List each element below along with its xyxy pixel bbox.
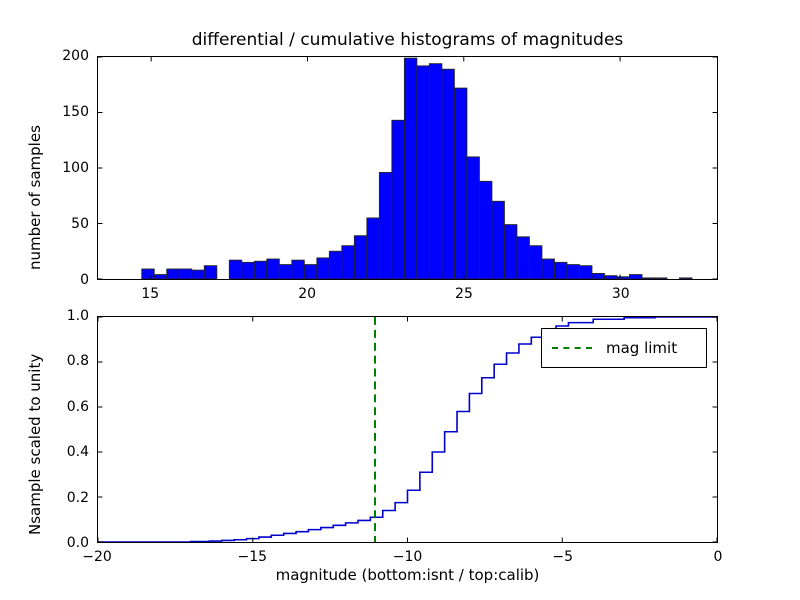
legend-box: mag limit <box>541 328 707 368</box>
histogram-bar <box>254 261 267 279</box>
top-axes-ylabel: number of samples <box>26 125 44 270</box>
top-xtick-label: 20 <box>298 286 316 302</box>
histogram-bar <box>567 265 580 279</box>
bottom-ytick-label: 0.4 <box>51 444 89 460</box>
top-ytick-label: 200 <box>51 48 89 64</box>
top-ytick-label: 50 <box>51 216 89 232</box>
bottom-xtick-label: 0 <box>714 549 723 565</box>
histogram-bar <box>329 251 342 279</box>
histogram-bar <box>179 269 192 279</box>
figure-canvas: differential / cumulative histograms of … <box>0 0 800 600</box>
histogram-bar <box>167 269 180 279</box>
figure-xlabel: magnitude (bottom:isnt / top:calib) <box>97 566 718 584</box>
top-ytick-label: 100 <box>51 160 89 176</box>
bottom-xtick-label: −15 <box>237 549 267 565</box>
bottom-ytick-label: 0.8 <box>51 353 89 369</box>
histogram-bar <box>504 225 517 279</box>
histogram-bar <box>592 273 605 279</box>
histogram-bar <box>529 246 542 279</box>
histogram-bar <box>429 64 442 279</box>
bottom-xtick-label: −5 <box>552 549 573 565</box>
histogram-bar <box>492 201 505 279</box>
histogram-bar <box>542 259 555 279</box>
histogram-bar <box>604 276 617 279</box>
histogram-bar <box>404 58 417 279</box>
histogram-bar <box>679 278 692 279</box>
bottom-xtick-label: −20 <box>82 549 112 565</box>
bottom-xtick-label: −10 <box>393 549 423 565</box>
figure-title: differential / cumulative histograms of … <box>97 30 718 50</box>
histogram-bar <box>554 262 567 279</box>
histogram-bar <box>229 260 242 279</box>
histogram-bar <box>192 270 205 279</box>
histogram-bar <box>242 262 255 279</box>
legend-label-mag-limit: mag limit <box>606 339 677 357</box>
top-ytick-label: 150 <box>51 104 89 120</box>
legend-line-sample-mag-limit <box>552 347 592 349</box>
histogram-bar <box>304 265 317 279</box>
histogram-bar <box>292 260 305 279</box>
bottom-ytick-label: 0.6 <box>51 399 89 415</box>
histogram-bar <box>517 237 530 279</box>
top-xtick-label: 25 <box>455 286 473 302</box>
histogram-bar <box>579 266 592 279</box>
histogram-bar <box>354 236 367 279</box>
top-xtick-label: 15 <box>141 286 159 302</box>
histogram-bar <box>617 277 630 279</box>
differential-histogram-plot <box>98 57 717 279</box>
histogram-bar <box>379 172 392 279</box>
histogram-bar <box>367 218 380 279</box>
histogram-bar <box>154 275 167 279</box>
histogram-bar <box>267 259 280 279</box>
histogram-bar <box>479 181 492 279</box>
histogram-bar <box>317 258 330 279</box>
bottom-ytick-label: 0.2 <box>51 490 89 506</box>
histogram-bar <box>642 278 655 279</box>
top-axes-differential-histogram <box>97 56 718 280</box>
histogram-bar <box>204 266 217 279</box>
histogram-bar <box>279 265 292 279</box>
bottom-axes-ylabel: Nsample scaled to unity <box>26 354 44 535</box>
bottom-ytick-label: 1.0 <box>51 308 89 324</box>
histogram-bar <box>467 157 480 279</box>
histogram-bar <box>454 88 467 279</box>
histogram-bar <box>442 69 455 279</box>
histogram-bar <box>629 275 642 279</box>
histogram-bar <box>417 66 430 279</box>
top-ytick-label: 0 <box>51 272 89 288</box>
histogram-bar <box>142 269 155 279</box>
histogram-bar <box>342 246 355 279</box>
histogram-bar <box>392 120 405 279</box>
histogram-bar <box>654 278 667 279</box>
top-xtick-label: 30 <box>612 286 630 302</box>
